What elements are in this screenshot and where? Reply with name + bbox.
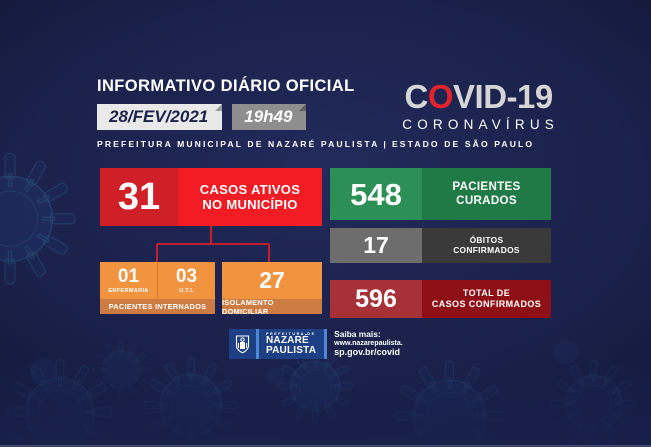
panel-confirmed-deaths: 17 ÓBITOS CONFIRMADOS — [330, 228, 551, 263]
state-label: ESTADO DE SÃO PAULO — [392, 139, 534, 149]
active-cases-value: 31 — [100, 168, 178, 226]
footer-block: PREFEITURA DE NAZARÉ PAULISTA Saiba mais… — [229, 329, 403, 359]
breadcrumb: PREFEITURA MUNICIPAL DE NAZARÉ PAULISTA|… — [97, 139, 557, 149]
total-label-line1: TOTAL DE — [463, 288, 510, 299]
icu-label: U.T.I. — [179, 289, 194, 295]
city-crest-icon — [229, 329, 256, 359]
background-bottom-band — [0, 351, 651, 447]
panel-cured-patients: 548 PACIENTES CURADOS — [330, 168, 551, 220]
active-cases-label-line2: NO MUNICÍPIO — [202, 197, 297, 212]
active-cases-label: CASOS ATIVOS NO MUNICÍPIO — [178, 168, 322, 226]
icu-value: 03 — [176, 267, 197, 286]
panel-total-confirmed: 596 TOTAL DE CASOS CONFIRMADOS — [330, 280, 551, 318]
covid-logo-subtitle: CORONAVÍRUS — [398, 118, 559, 132]
ward-cell: 01 ENFERMARIA — [100, 262, 157, 299]
isolation-footer-label: ISOLAMENTO DOMICILIAR — [222, 299, 322, 314]
municipality-label: PREFEITURA MUNICIPAL DE NAZARÉ PAULISTA — [97, 139, 379, 149]
covid-logo-c: C — [405, 78, 428, 115]
isolation-cell: 27 — [222, 262, 322, 299]
covid-logo-rest: VID-19 — [453, 78, 553, 115]
learn-more-block: Saiba mais: www.nazarepaulista. sp.gov.b… — [327, 329, 403, 359]
total-label-line2: CASOS CONFIRMADOS — [432, 299, 541, 310]
icu-cell: 03 U.T.I. — [157, 262, 215, 299]
active-cases-label-line1: CASOS ATIVOS — [200, 182, 300, 197]
breakdown-connector — [100, 226, 322, 262]
covid-logo: COVID-19 CORONAVÍRUS — [398, 80, 559, 132]
covid-logo-o-icon: O — [428, 78, 453, 115]
hospitalized-cells: 01 ENFERMARIA 03 U.T.I. — [100, 262, 215, 299]
deaths-label-line1: ÓBITOS — [470, 236, 504, 246]
total-label: TOTAL DE CASOS CONFIRMADOS — [422, 280, 551, 318]
isolation-value: 27 — [259, 269, 285, 292]
cured-value: 548 — [330, 168, 422, 220]
covid-logo-wordmark: COVID-19 — [398, 80, 559, 113]
covid-daily-report-poster: INFORMATIVO DIÁRIO OFICIAL 28/FEV/2021 1… — [0, 0, 651, 447]
panel-home-isolation: 27 ISOLAMENTO DOMICILIAR — [222, 262, 322, 314]
deaths-value: 17 — [330, 228, 422, 263]
cured-label-line2: CURADOS — [456, 194, 517, 208]
cured-label: PACIENTES CURADOS — [422, 168, 551, 220]
ward-value: 01 — [118, 267, 139, 286]
panel-active-cases: 31 CASOS ATIVOS NO MUNICÍPIO — [100, 168, 322, 226]
time-chip: 19h49 — [232, 104, 306, 130]
deaths-label-line2: CONFIRMADOS — [453, 246, 520, 256]
isolation-cells: 27 — [222, 262, 322, 299]
city-brand: PREFEITURA DE NAZARÉ PAULISTA — [259, 329, 324, 359]
total-value: 596 — [330, 280, 422, 318]
learn-more-title: Saiba mais: — [334, 330, 403, 339]
website-url-line2[interactable]: sp.gov.br/covid — [334, 348, 403, 358]
cured-label-line1: PACIENTES — [452, 180, 520, 194]
panel-hospitalized-patients: 01 ENFERMARIA 03 U.T.I. PACIENTES INTERN… — [100, 262, 215, 314]
breadcrumb-separator: | — [379, 139, 392, 149]
deaths-label: ÓBITOS CONFIRMADOS — [422, 228, 551, 263]
hospitalized-footer-label: PACIENTES INTERNADOS — [100, 299, 215, 314]
brand-line2: PAULISTA — [266, 346, 316, 356]
date-chip: 28/FEV/2021 — [97, 104, 222, 130]
ward-label: ENFERMARIA — [108, 289, 148, 295]
